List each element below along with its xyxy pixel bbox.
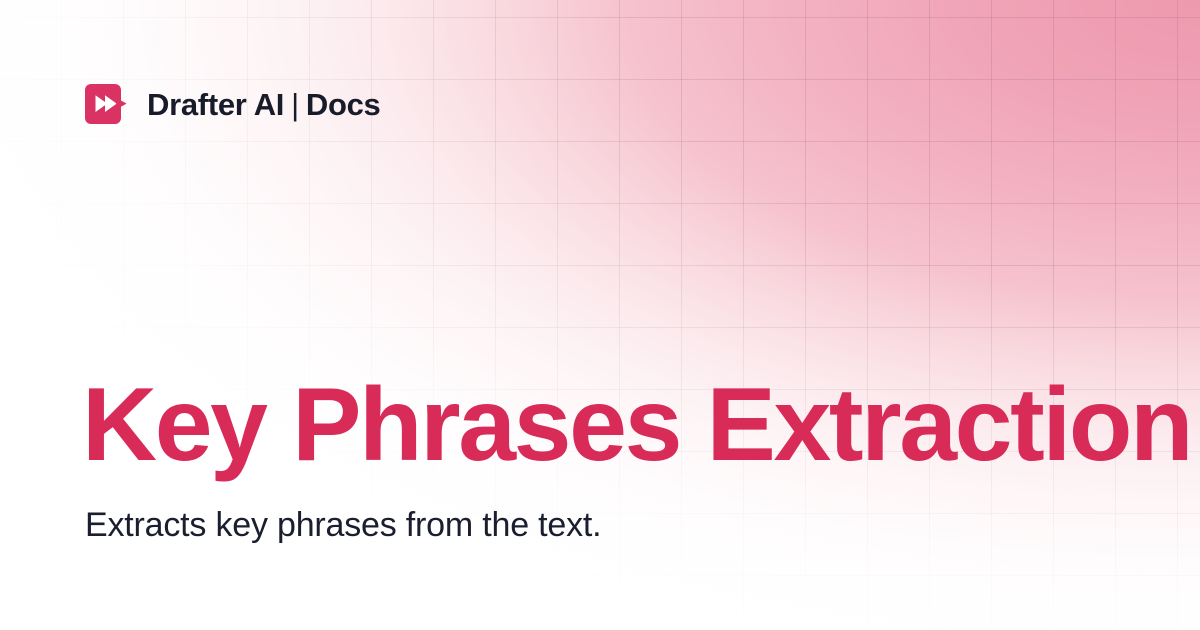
brand-section: Docs bbox=[306, 87, 381, 122]
brand-lockup: Drafter AI|Docs bbox=[85, 83, 380, 125]
banner-content: Drafter AI|Docs Key Phrases Extraction E… bbox=[0, 0, 1200, 630]
page-title: Key Phrases Extraction bbox=[82, 373, 1142, 477]
brand-name: Drafter AI bbox=[147, 87, 284, 122]
og-banner: Drafter AI|Docs Key Phrases Extraction E… bbox=[0, 0, 1200, 630]
brand-separator: | bbox=[284, 89, 306, 120]
page-description: Extracts key phrases from the text. bbox=[85, 505, 601, 546]
brand-title: Drafter AI|Docs bbox=[147, 89, 380, 120]
fast-forward-logo-icon bbox=[85, 84, 129, 124]
